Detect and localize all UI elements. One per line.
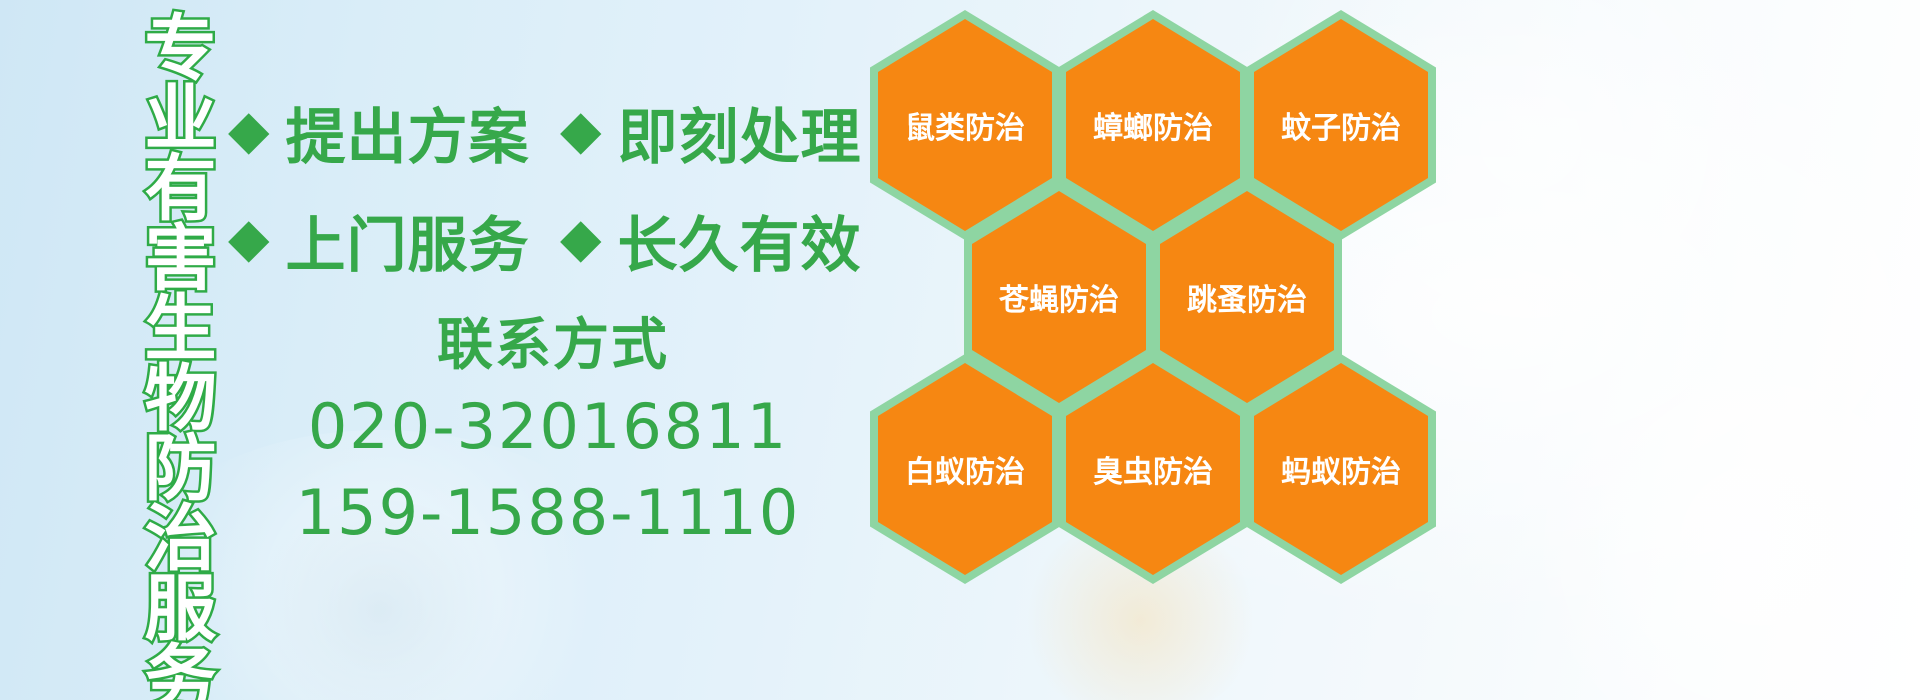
service-label: 蚂蚁防治 [1281,447,1401,491]
hex-inner: 白蚁防治 [878,363,1052,575]
feature-item-long-lasting: ◆ 长久有效 [560,197,862,284]
pest-control-banner: 专业有害生物防治服务 ◆ 提出方案 ◆ 即刻处理 ◆ 上门服务 ◆ 长久有效 联… [0,0,1920,700]
contact-heading: 联系方式 [228,312,868,379]
hex-inner: 跳蚤防治 [1160,191,1334,403]
hex-inner: 苍蝇防治 [972,191,1146,403]
contact-phone-mobile[interactable]: 159-1588-1110 [228,475,868,551]
hex-inner: 蚊子防治 [1254,19,1428,231]
feature-label: 即刻处理 [618,89,862,176]
hex-inner: 鼠类防治 [878,19,1052,231]
feature-label: 长久有效 [618,197,862,284]
contact-phone-landline[interactable]: 020-32016811 [228,389,868,465]
hex-inner: 蚂蚁防治 [1254,363,1428,575]
diamond-bullet-icon: ◆ [560,103,602,157]
diamond-bullet-icon: ◆ [228,211,270,265]
service-honeycomb: 鼠类防治 蟑螂防治 蚊子防治 苍蝇防治 跳蚤防治 白蚁防治 [862,0,1462,560]
vertical-headline: 专业有害生物防治服务 [104,10,208,690]
service-label: 鼠类防治 [905,103,1025,147]
service-label: 白蚁防治 [905,447,1025,491]
feature-row: ◆ 上门服务 ◆ 长久有效 [228,186,878,294]
feature-item-onsite-service: ◆ 上门服务 [228,197,560,284]
background-glow-bottom-right [1500,330,1920,700]
feature-label: 上门服务 [286,197,530,284]
feature-item-propose-plan: ◆ 提出方案 [228,89,560,176]
contact-block: 联系方式 020-32016811 159-1588-1110 [228,312,868,550]
service-label: 蟑螂防治 [1093,103,1213,147]
feature-label: 提出方案 [286,89,530,176]
service-label: 跳蚤防治 [1187,275,1307,319]
diamond-bullet-icon: ◆ [228,103,270,157]
hex-inner: 蟑螂防治 [1066,19,1240,231]
feature-row: ◆ 提出方案 ◆ 即刻处理 [228,78,878,186]
service-label: 苍蝇防治 [999,275,1119,319]
feature-item-immediate-action: ◆ 即刻处理 [560,89,862,176]
feature-list: ◆ 提出方案 ◆ 即刻处理 ◆ 上门服务 ◆ 长久有效 [228,78,878,294]
service-label: 臭虫防治 [1093,447,1213,491]
service-label: 蚊子防治 [1281,103,1401,147]
hex-inner: 臭虫防治 [1066,363,1240,575]
diamond-bullet-icon: ◆ [560,211,602,265]
